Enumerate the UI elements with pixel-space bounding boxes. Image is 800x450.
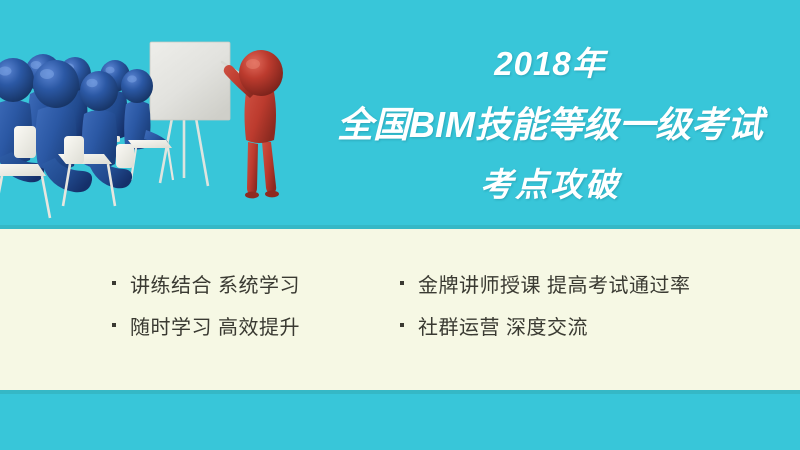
bullet-label: 社群运营 深度交流 xyxy=(418,311,588,340)
bullet-label: 随时学习 高效提升 xyxy=(130,311,300,340)
feature-bullets: 讲练结合 系统学习 随时学习 高效提升 金牌讲师授课 提高考试通过率 社群运营 … xyxy=(0,262,800,362)
list-item: 社群运营 深度交流 xyxy=(400,304,780,346)
course-promo-banner: 2018年 全国BIM技能等级一级考试 考点攻破 讲练结合 系统学习 随时学习 … xyxy=(0,0,800,450)
title-main-line: 全国BIM技能等级一级考试 xyxy=(337,102,763,148)
instructor-figure xyxy=(222,50,283,198)
bullet-dot-icon xyxy=(112,281,116,285)
bullet-dot-icon xyxy=(400,281,404,285)
title-sub-line: 考点攻破 xyxy=(480,164,620,206)
title-block: 2018年 全国BIM技能等级一级考试 考点攻破 xyxy=(300,44,800,224)
instructor-head xyxy=(239,50,283,96)
bullet-column-right: 金牌讲师授课 提高考试通过率 社群运营 深度交流 xyxy=(400,262,780,346)
bullet-label: 金牌讲师授课 提高考试通过率 xyxy=(418,269,691,298)
whiteboard xyxy=(150,42,230,120)
list-item: 讲练结合 系统学习 xyxy=(112,262,402,304)
bullet-label: 讲练结合 系统学习 xyxy=(130,269,300,298)
bullet-dot-icon xyxy=(112,323,116,327)
list-item: 金牌讲师授课 提高考试通过率 xyxy=(400,262,780,304)
list-item: 随时学习 高效提升 xyxy=(112,304,402,346)
bottom-teal-band xyxy=(0,394,800,450)
bullet-column-left: 讲练结合 系统学习 随时学习 高效提升 xyxy=(112,262,402,346)
classroom-lecture-illustration xyxy=(0,18,310,230)
bullet-dot-icon xyxy=(400,323,404,327)
easel-legs xyxy=(160,118,208,186)
title-year-line: 2018年 xyxy=(494,44,605,84)
